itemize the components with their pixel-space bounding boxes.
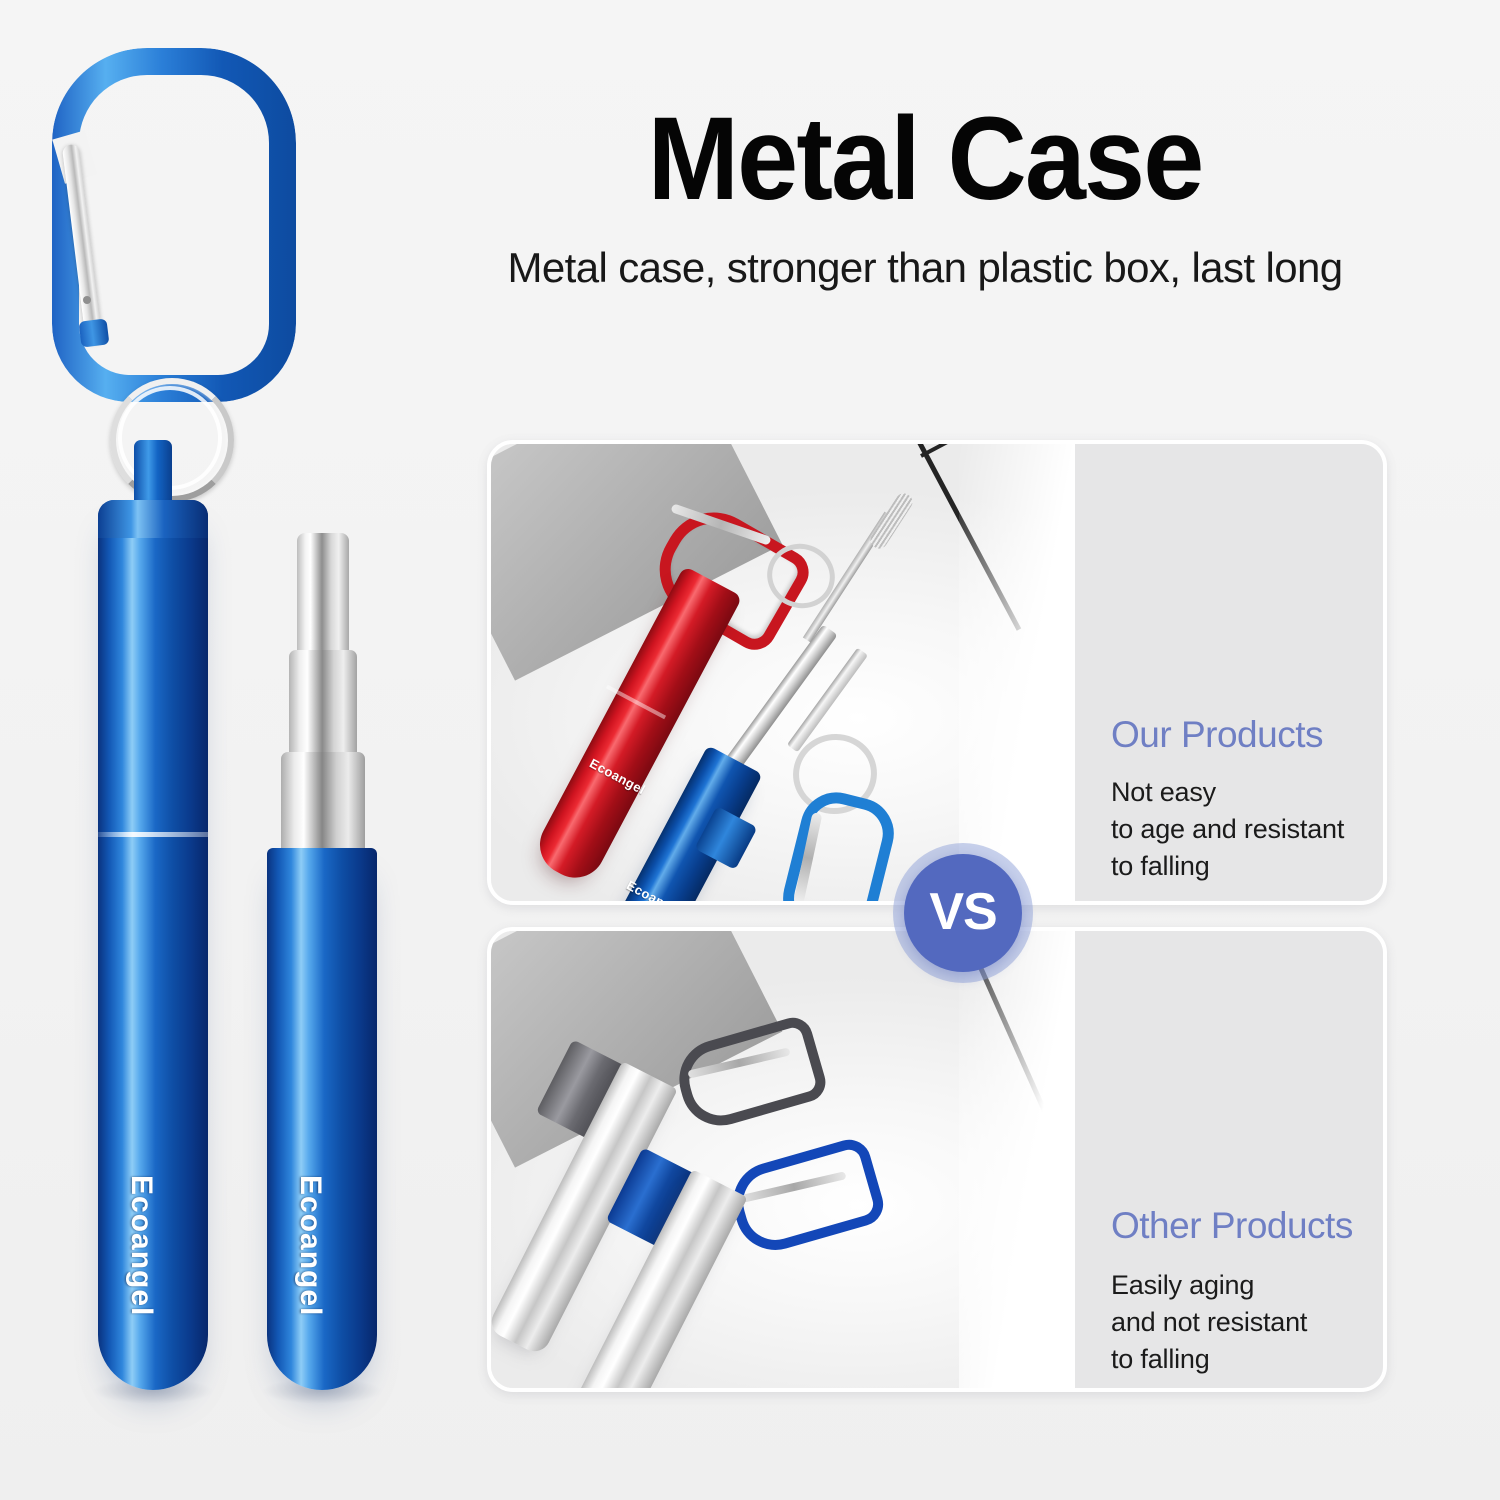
heading-other-products: Other Products [1111, 1205, 1353, 1247]
carabiner-icon [52, 48, 262, 388]
carabiner-gate-tip [79, 318, 110, 347]
text-panel-other-products: Other Products Easily aging and not resi… [1075, 931, 1383, 1388]
heading-our-products: Our Products [1111, 714, 1323, 756]
straw-segment-middle [289, 650, 357, 760]
hero-product-composition: Ecoangel Ecoangel [0, 0, 430, 1500]
body-line: to age and resistant [1111, 811, 1344, 848]
body-line: Not easy [1111, 774, 1344, 811]
photo-other-products [491, 931, 1083, 1388]
body-our-products: Not easy to age and resistant to falling [1111, 774, 1344, 885]
vs-badge-label: VS [929, 882, 996, 942]
body-line: to falling [1111, 1341, 1307, 1378]
body-line: and not resistant [1111, 1304, 1307, 1341]
card-other-products: Other Products Easily aging and not resi… [487, 927, 1387, 1392]
card-our-products: Ecoangel Ecoangel Our Products Not easy … [487, 440, 1387, 905]
straw-segment-top [297, 533, 349, 658]
body-line: Easily aging [1111, 1267, 1307, 1304]
photo-our-products: Ecoangel Ecoangel [491, 444, 1083, 901]
page-root: Metal Case Metal case, stronger than pla… [0, 0, 1500, 1500]
brand-label-case2: Ecoangel [293, 1175, 327, 1316]
case-seam [98, 832, 208, 837]
carabiner-pin [83, 296, 91, 304]
page-subtitle: Metal case, stronger than plastic box, l… [420, 244, 1430, 292]
case-cap [98, 500, 208, 538]
photo-fade [959, 444, 1083, 901]
body-other-products: Easily aging and not resistant to fallin… [1111, 1267, 1307, 1378]
text-panel-our-products: Our Products Not easy to age and resista… [1075, 444, 1383, 901]
page-title: Metal Case [455, 100, 1394, 218]
photo-fade [959, 931, 1083, 1388]
body-line: to falling [1111, 848, 1344, 885]
vs-badge-core: VS [904, 854, 1022, 972]
header: Metal Case Metal case, stronger than pla… [420, 100, 1430, 292]
vs-badge: VS [888, 843, 1058, 985]
brand-label-case1: Ecoangel [124, 1175, 158, 1316]
